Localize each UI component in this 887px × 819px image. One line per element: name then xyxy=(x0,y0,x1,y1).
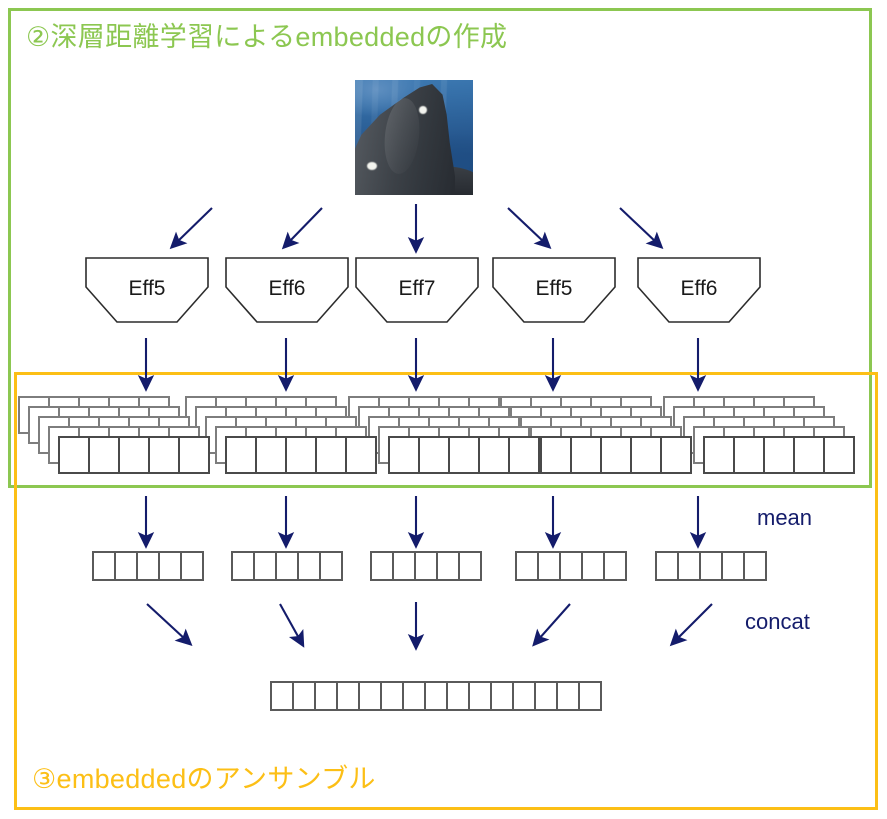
embedding-cell xyxy=(255,436,287,474)
concat-cell xyxy=(314,681,338,711)
embedding-stack xyxy=(185,396,355,474)
mean-cell xyxy=(253,551,277,581)
concat-vector xyxy=(270,681,602,711)
model-label: Eff6 xyxy=(225,277,349,301)
mean-cell xyxy=(559,551,583,581)
embedding-layer xyxy=(225,436,377,474)
concat-cell xyxy=(578,681,602,711)
mean-vector xyxy=(92,551,204,581)
mean-cell xyxy=(677,551,701,581)
embedding-cell xyxy=(418,436,450,474)
embedding-cell xyxy=(315,436,347,474)
model-eff5-b[interactable]: Eff5 xyxy=(492,257,616,323)
section-title-deep-metric-learning: ②深層距離学習によるembeddedの作成 xyxy=(26,24,507,51)
embedding-cell xyxy=(448,436,480,474)
fin-glint-upper xyxy=(419,106,427,114)
concat-cell xyxy=(534,681,558,711)
mean-cell xyxy=(297,551,321,581)
mean-cell xyxy=(92,551,116,581)
mean-vector xyxy=(231,551,343,581)
embedding-layer xyxy=(703,436,855,474)
model-label: Eff7 xyxy=(355,277,479,301)
model-eff6-a[interactable]: Eff6 xyxy=(225,257,349,323)
mean-cell xyxy=(721,551,745,581)
embedding-cell xyxy=(478,436,510,474)
embedding-cell xyxy=(763,436,795,474)
mean-cell xyxy=(537,551,561,581)
mean-cell xyxy=(699,551,723,581)
mean-cell xyxy=(370,551,394,581)
mean-cell xyxy=(743,551,767,581)
concat-cell xyxy=(512,681,536,711)
mean-cell xyxy=(275,551,299,581)
mean-cell xyxy=(136,551,160,581)
model-eff6-b[interactable]: Eff6 xyxy=(637,257,761,323)
mean-cell xyxy=(414,551,438,581)
concat-cell xyxy=(446,681,470,711)
mean-cell xyxy=(603,551,627,581)
concat-cell xyxy=(556,681,580,711)
concat-cell xyxy=(424,681,448,711)
model-label: Eff6 xyxy=(637,277,761,301)
mean-cell xyxy=(515,551,539,581)
concat-cell xyxy=(490,681,514,711)
embedding-cell xyxy=(285,436,317,474)
mean-cell xyxy=(392,551,416,581)
embedding-cell xyxy=(630,436,662,474)
mean-cell xyxy=(180,551,204,581)
mean-cell xyxy=(458,551,482,581)
embedding-cell xyxy=(600,436,632,474)
concat-operation-label: concat xyxy=(745,609,810,635)
embedding-cell xyxy=(148,436,180,474)
model-label: Eff5 xyxy=(492,277,616,301)
mean-operation-label: mean xyxy=(757,505,812,531)
concat-cell xyxy=(380,681,404,711)
mean-vector xyxy=(655,551,767,581)
mean-cell xyxy=(655,551,679,581)
embedding-cell xyxy=(345,436,377,474)
embedding-cell xyxy=(793,436,825,474)
mean-cell xyxy=(436,551,460,581)
embedding-cell xyxy=(88,436,120,474)
model-eff7[interactable]: Eff7 xyxy=(355,257,479,323)
mean-vector xyxy=(370,551,482,581)
mean-cell xyxy=(114,551,138,581)
mean-cell xyxy=(158,551,182,581)
concat-cell xyxy=(468,681,492,711)
embedding-layer xyxy=(58,436,210,474)
model-label: Eff5 xyxy=(85,277,209,301)
embedding-cell xyxy=(178,436,210,474)
embedding-layer xyxy=(388,436,540,474)
concat-cell xyxy=(292,681,316,711)
concat-cell xyxy=(358,681,382,711)
embedding-cell xyxy=(388,436,420,474)
mean-cell xyxy=(231,551,255,581)
embedding-cell xyxy=(540,436,572,474)
embedding-stack xyxy=(18,396,188,474)
model-eff5-a[interactable]: Eff5 xyxy=(85,257,209,323)
embedding-cell xyxy=(660,436,692,474)
embedding-cell xyxy=(733,436,765,474)
diagram-canvas: ②深層距離学習によるembeddedの作成 ③embeddedのアンサンブル xyxy=(0,0,887,819)
mean-cell xyxy=(581,551,605,581)
fin-glint-lower xyxy=(367,162,377,170)
source-whale-fin-image xyxy=(355,80,473,195)
embedding-cell xyxy=(823,436,855,474)
embedding-cell xyxy=(58,436,90,474)
embedding-cell xyxy=(508,436,540,474)
section-title-embedded-ensemble: ③embeddedのアンサンブル xyxy=(32,766,376,793)
embedding-cell xyxy=(570,436,602,474)
mean-cell xyxy=(319,551,343,581)
embedding-cell xyxy=(225,436,257,474)
concat-cell xyxy=(270,681,294,711)
concat-cell xyxy=(336,681,360,711)
embedding-cell xyxy=(118,436,150,474)
mean-vector xyxy=(515,551,627,581)
concat-cell xyxy=(402,681,426,711)
embedding-cell xyxy=(703,436,735,474)
embedding-layer xyxy=(540,436,692,474)
